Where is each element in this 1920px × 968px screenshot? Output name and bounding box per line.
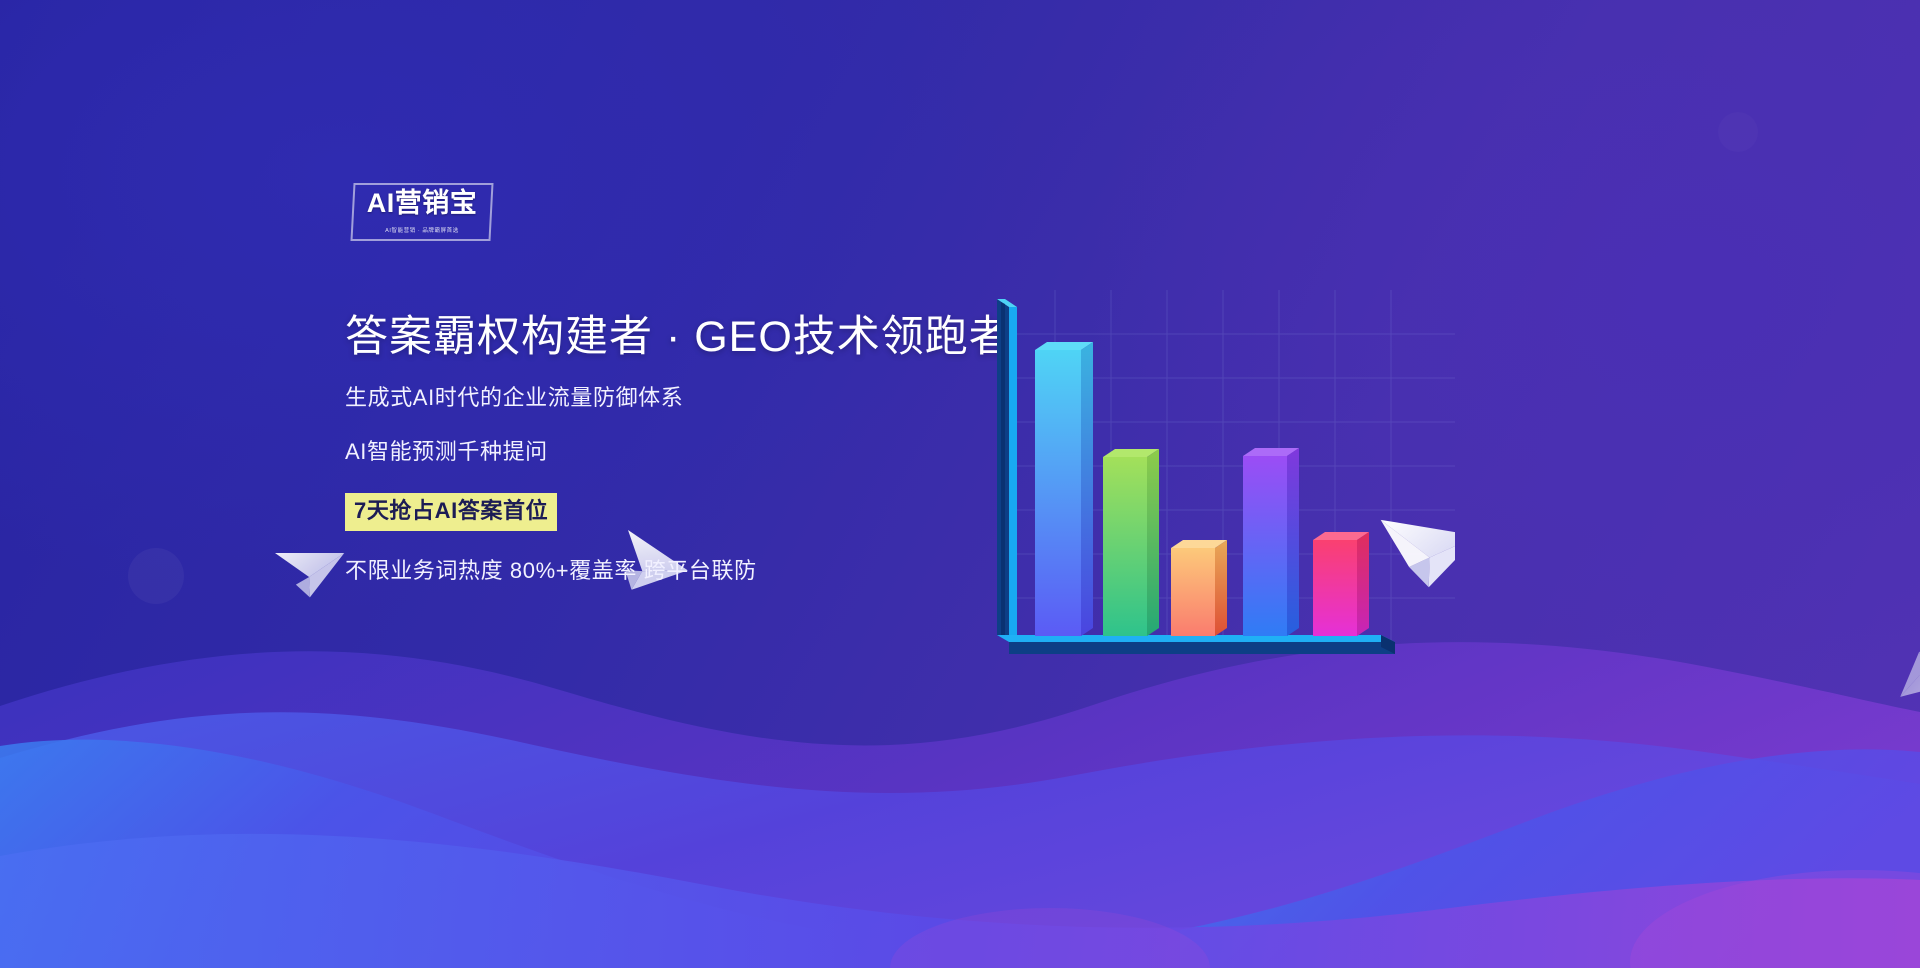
chart-bar — [1243, 448, 1299, 636]
chart-y-axis — [997, 299, 1017, 642]
hero-banner: AI营销宝 AI智能营销 · 品牌霸屏首选 答案霸权构建者 · GEO技术领跑者… — [0, 0, 1920, 968]
logo-tagline: AI智能营销 · 品牌霸屏首选 — [358, 225, 487, 233]
chart-floor — [997, 635, 1395, 654]
hero-subtitle-2: AI智能预测千种提问 — [345, 441, 1045, 463]
chart-bar — [1035, 342, 1093, 636]
hero-subtitle-1: 生成式AI时代的企业流量防御体系 — [345, 387, 1045, 409]
chart-bar — [1313, 532, 1369, 636]
brand-logo[interactable]: AI营销宝 AI智能营销 · 品牌霸屏首选 — [352, 183, 492, 241]
paper-plane-icon — [1886, 642, 1920, 709]
paper-plane-icon — [275, 537, 353, 603]
paper-plane-icon — [1381, 501, 1455, 594]
hero-highlight-badge: 7天抢占AI答案首位 — [345, 493, 557, 531]
logo-wordmark: AI营销宝 — [352, 190, 492, 217]
page-title: 答案霸权构建者 · GEO技术领跑者 — [345, 312, 1045, 363]
hero-copy: 答案霸权构建者 · GEO技术领跑者 生成式AI时代的企业流量防御体系 AI智能… — [345, 312, 1045, 582]
bar-chart-illustration — [975, 290, 1455, 680]
chart-bar — [1171, 540, 1227, 636]
chart-bar — [1103, 449, 1159, 636]
hero-feature-line: 不限业务词热度 80%+覆盖率 跨平台联防 — [345, 560, 1045, 582]
